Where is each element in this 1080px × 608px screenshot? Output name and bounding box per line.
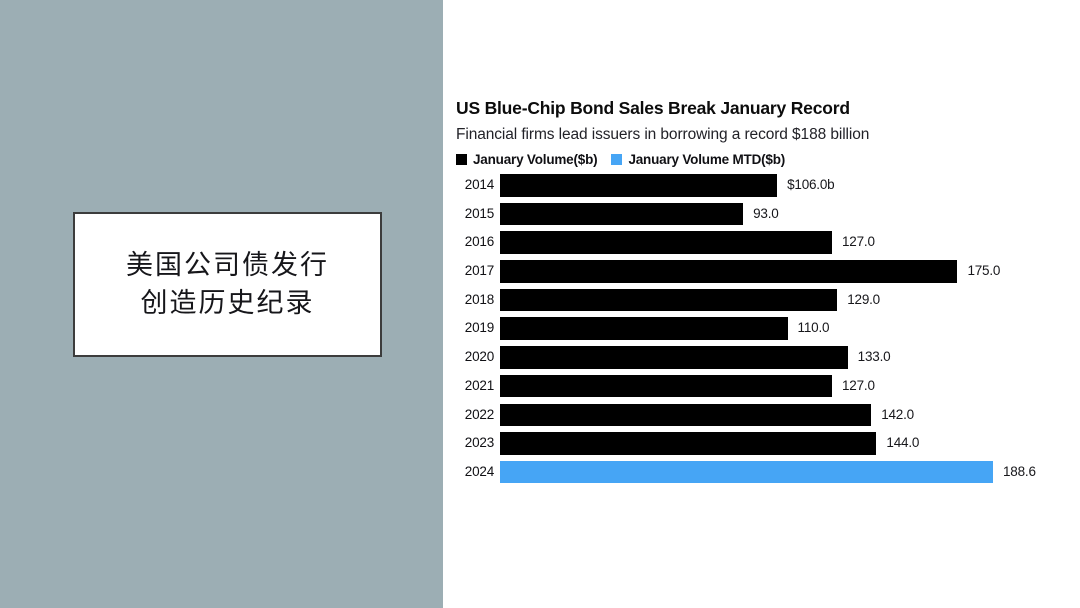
bar-row: 2021127.0 <box>443 375 1080 404</box>
bar-value-label: 142.0 <box>881 404 914 427</box>
bar-fill[interactable] <box>500 203 743 226</box>
bar-row: 2022142.0 <box>443 404 1080 433</box>
legend-label-january-volume-mtd: January Volume MTD($b) <box>628 152 785 167</box>
bar-fill[interactable] <box>500 346 848 369</box>
bar-track: 144.0 <box>500 432 1080 455</box>
legend-label-january-volume: January Volume($b) <box>473 152 597 167</box>
bar-track: 127.0 <box>500 231 1080 254</box>
bar-year-label: 2019 <box>443 317 494 340</box>
bar-year-label: 2024 <box>443 461 494 484</box>
bar-fill[interactable] <box>500 289 837 312</box>
bar-row: 2019110.0 <box>443 317 1080 346</box>
bar-track: 188.6 <box>500 461 1080 484</box>
bar-fill[interactable] <box>500 461 993 484</box>
bar-row: 2018129.0 <box>443 289 1080 318</box>
bar-track: 127.0 <box>500 375 1080 398</box>
bar-fill[interactable] <box>500 432 876 455</box>
bar-value-label: 127.0 <box>842 375 875 398</box>
bar-value-label: 175.0 <box>967 260 1000 283</box>
bar-value-label: $106.0b <box>787 174 834 197</box>
bar-value-label: 188.6 <box>1003 461 1036 484</box>
chart-subtitle: Financial firms lead issuers in borrowin… <box>456 126 869 144</box>
headline-line-2: 创造历史纪录 <box>141 285 315 323</box>
bar-value-label: 110.0 <box>798 317 830 340</box>
bar-fill[interactable] <box>500 317 788 340</box>
legend-swatch-black <box>456 154 467 165</box>
left-title-panel: 美国公司债发行 创造历史纪录 <box>0 0 443 608</box>
bar-track: 93.0 <box>500 203 1080 226</box>
chart-legend: January Volume($b) January Volume MTD($b… <box>456 152 785 167</box>
bar-row: 2014$106.0b <box>443 174 1080 203</box>
bar-value-label: 127.0 <box>842 231 875 254</box>
bar-year-label: 2022 <box>443 404 494 427</box>
bar-row: 2023144.0 <box>443 432 1080 461</box>
bar-year-label: 2016 <box>443 231 494 254</box>
bar-row: 2016127.0 <box>443 231 1080 260</box>
bar-track: 129.0 <box>500 289 1080 312</box>
bar-year-label: 2015 <box>443 203 494 226</box>
bar-value-label: 133.0 <box>858 346 891 369</box>
bar-value-label: 129.0 <box>847 289 880 312</box>
headline-box: 美国公司债发行 创造历史纪录 <box>73 212 382 357</box>
bar-track: 133.0 <box>500 346 1080 369</box>
legend-item-january-volume-mtd[interactable]: January Volume MTD($b) <box>611 152 785 167</box>
bar-year-label: 2014 <box>443 174 494 197</box>
bar-track: 110.0 <box>500 317 1080 340</box>
bar-row: 2020133.0 <box>443 346 1080 375</box>
legend-swatch-blue <box>611 154 622 165</box>
bar-year-label: 2018 <box>443 289 494 312</box>
bar-fill[interactable] <box>500 375 832 398</box>
bar-value-label: 93.0 <box>753 203 778 226</box>
bar-track: 142.0 <box>500 404 1080 427</box>
bar-track: 175.0 <box>500 260 1080 283</box>
bar-row: 2024188.6 <box>443 461 1080 490</box>
bar-track: $106.0b <box>500 174 1080 197</box>
bar-year-label: 2020 <box>443 346 494 369</box>
slide-canvas: 美国公司债发行 创造历史纪录 US Blue-Chip Bond Sales B… <box>0 0 1080 608</box>
headline-line-1: 美国公司债发行 <box>126 247 329 285</box>
bar-row: 2017175.0 <box>443 260 1080 289</box>
bar-year-label: 2021 <box>443 375 494 398</box>
bar-fill[interactable] <box>500 404 871 427</box>
bar-fill[interactable] <box>500 174 777 197</box>
bar-chart-plot: 2014$106.0b201593.02016127.02017175.0201… <box>443 174 1080 490</box>
chart-panel: US Blue-Chip Bond Sales Break January Re… <box>443 0 1080 608</box>
bar-fill[interactable] <box>500 231 832 254</box>
bar-row: 201593.0 <box>443 203 1080 232</box>
bar-value-label: 144.0 <box>886 432 919 455</box>
chart-title: US Blue-Chip Bond Sales Break January Re… <box>456 98 850 119</box>
bar-year-label: 2017 <box>443 260 494 283</box>
bar-fill[interactable] <box>500 260 957 283</box>
legend-item-january-volume[interactable]: January Volume($b) <box>456 152 597 167</box>
bar-year-label: 2023 <box>443 432 494 455</box>
